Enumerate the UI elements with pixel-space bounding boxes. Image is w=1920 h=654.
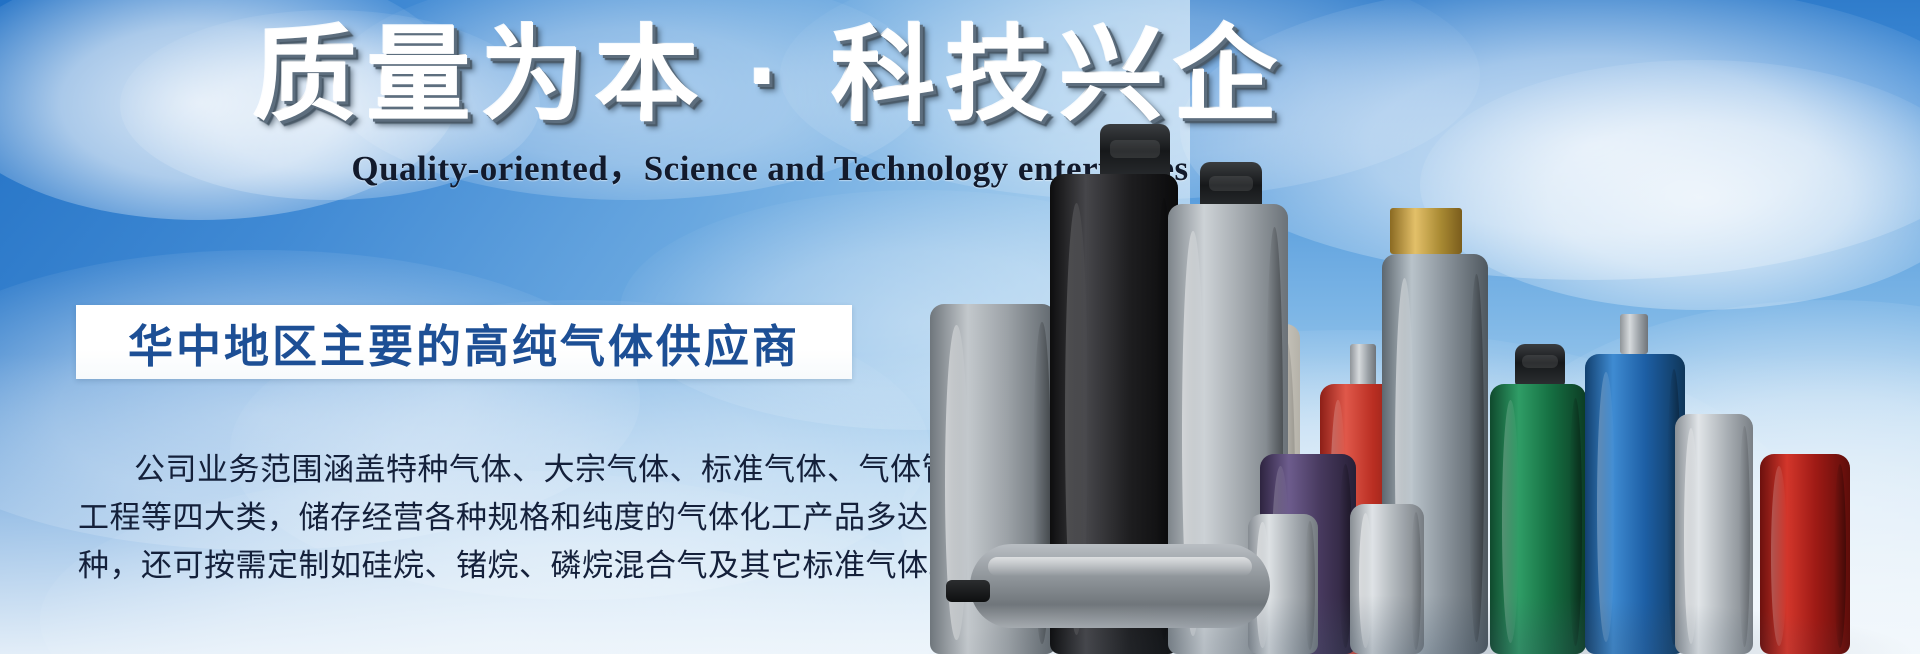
cylinder-brass-valve — [1390, 208, 1462, 254]
product-ground-shadow — [930, 594, 1920, 654]
slogan-highlight-box: 华中地区主要的高纯气体供应商 — [76, 305, 852, 379]
paragraph-line: 公司业务范围涵盖特种气体、大宗气体、标准气体、气体管道 — [78, 446, 868, 494]
cylinder-valve — [1620, 314, 1648, 354]
description-paragraph: 公司业务范围涵盖特种气体、大宗气体、标准气体、气体管道 工程等四大类，储存经营各… — [78, 446, 868, 590]
paragraph-line: 种，还可按需定制如硅烷、锗烷、磷烷混合气及其它标准气体。 — [78, 542, 868, 590]
cylinder-valve — [1350, 344, 1376, 386]
slogan-text: 华中地区主要的高纯气体供应商 — [128, 310, 800, 375]
cylinder-cap-black — [1515, 344, 1565, 386]
gas-cylinder-group — [930, 0, 1920, 654]
paragraph-line: 工程等四大类，储存经营各种规格和纯度的气体化工产品多达上百 — [78, 494, 868, 542]
promo-banner: 质量为本 · 科技兴企 Quality-oriented，Science and… — [0, 0, 1920, 654]
